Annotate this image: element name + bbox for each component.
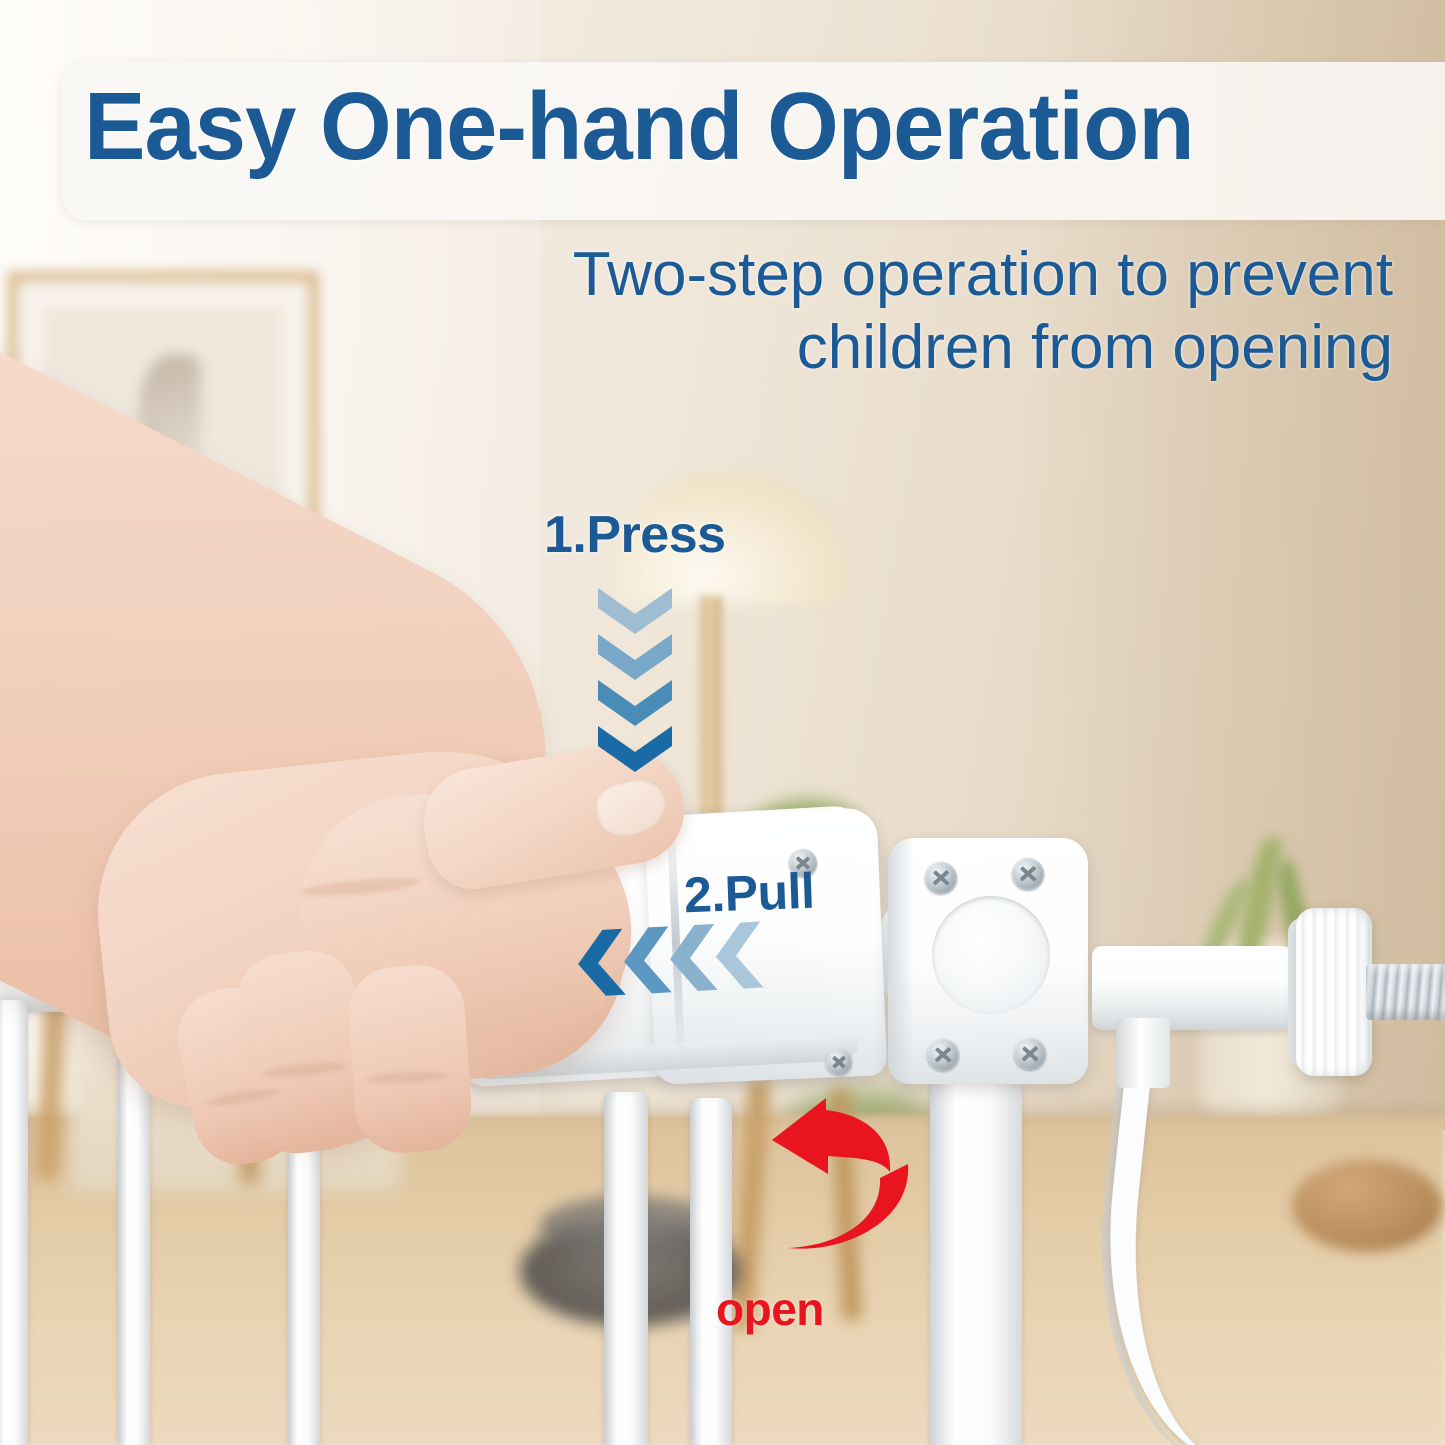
bracket-edge-shade xyxy=(888,838,914,1084)
gate-bar xyxy=(0,1000,28,1445)
step-2-pull-label: 2.Pull xyxy=(683,862,815,925)
page-title: Easy One-hand Operation xyxy=(84,72,1194,182)
screw-icon xyxy=(925,862,957,894)
subtitle-line-1: Two-step operation to prevent xyxy=(453,238,1393,311)
gate-bar xyxy=(604,1092,648,1445)
finger xyxy=(346,962,475,1156)
screw-icon xyxy=(1014,1038,1046,1070)
gate-rail-stub xyxy=(1116,1018,1170,1088)
curved-arrow-left-icon xyxy=(676,1096,926,1276)
chevron-down-icon xyxy=(592,588,678,774)
subtitle-line-2: children from opening xyxy=(453,311,1393,384)
bracket-circular-recess xyxy=(932,896,1050,1014)
screw-icon xyxy=(927,1039,959,1071)
pressure-knob[interactable] xyxy=(1296,908,1372,1076)
product-feature-image: Easy One-hand Operation Two-step operati… xyxy=(0,0,1445,1445)
gate-post xyxy=(930,1058,1022,1445)
step-1-press-label: 1.Press xyxy=(544,505,726,565)
open-label: open xyxy=(716,1282,824,1336)
threaded-bolt xyxy=(1366,964,1445,1020)
mounting-bracket xyxy=(888,838,1088,1084)
chevron-left-icon xyxy=(574,917,778,1001)
screw-icon xyxy=(826,1049,852,1075)
subtitle: Two-step operation to prevent children f… xyxy=(453,238,1393,384)
screw-icon xyxy=(1012,858,1044,890)
lamp-stem xyxy=(700,596,722,840)
